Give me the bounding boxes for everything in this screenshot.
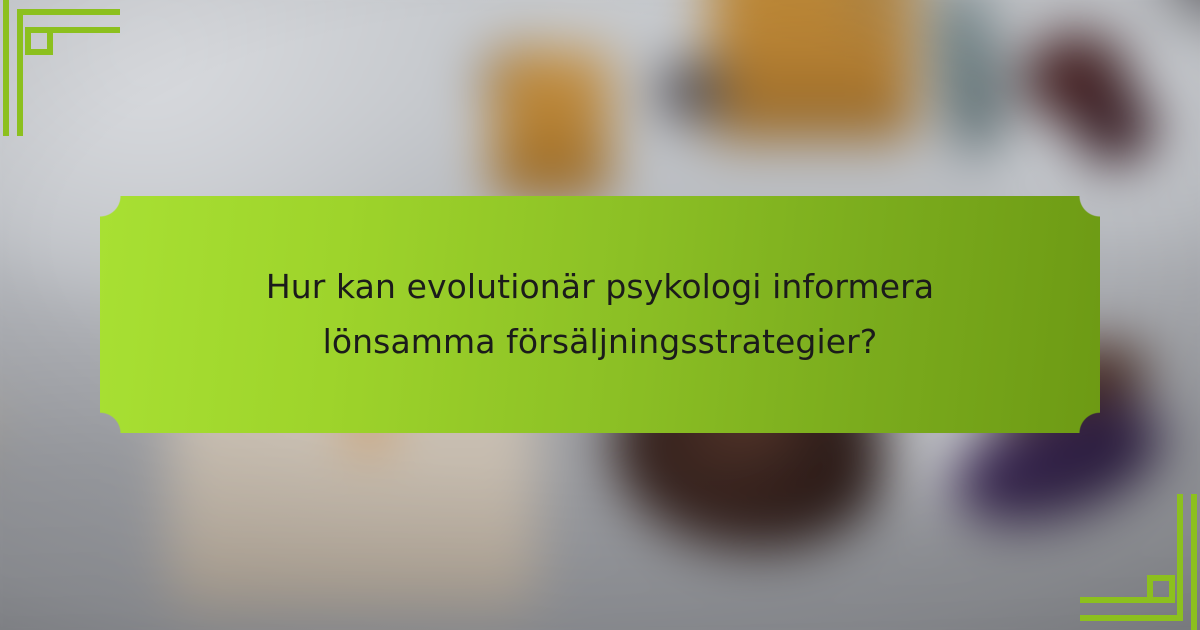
headline-text: Hur kan evolutionär psykologi informera … [148, 260, 1052, 370]
headline-banner: Hur kan evolutionär psykologi informera … [100, 196, 1100, 433]
share-card-canvas: Hur kan evolutionär psykologi informera … [0, 0, 1200, 630]
